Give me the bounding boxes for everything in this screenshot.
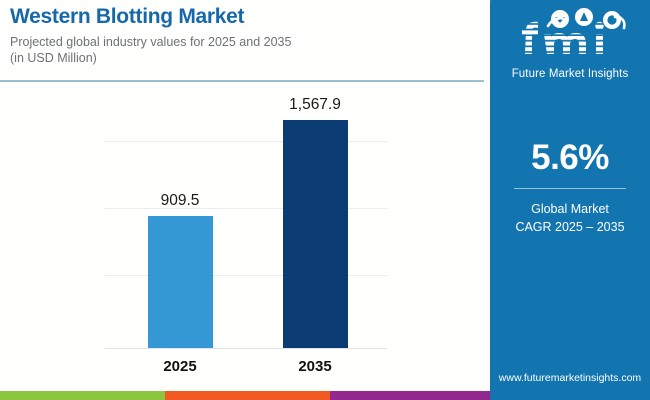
logo-wordmark: Future Market Insights	[490, 68, 650, 80]
header: Western Blotting Market Projected global…	[10, 6, 480, 67]
bar-category-label: 2035	[255, 358, 375, 375]
cagr-callout: 5.6% Global Market CAGR 2025 – 2035	[490, 140, 650, 236]
axis-baseline	[105, 348, 387, 349]
page-title: Western Blotting Market	[10, 6, 480, 29]
bottom-color-strip	[0, 391, 490, 400]
bar-2025	[148, 216, 213, 348]
cagr-divider	[514, 188, 626, 189]
bar-value-label: 909.5	[120, 192, 240, 210]
bar-category-label: 2025	[120, 358, 240, 375]
strip-segment-orange	[165, 391, 330, 400]
header-divider	[0, 80, 484, 82]
cagr-caption-line1: Global Market	[490, 200, 650, 218]
strip-segment-green	[0, 391, 165, 400]
page-subtitle: Projected global industry values for 202…	[10, 34, 480, 67]
fmi-logo-mark	[504, 8, 636, 66]
bar-value-label: 1,567.9	[255, 96, 375, 114]
cagr-caption-line2: CAGR 2025 – 2035	[490, 218, 650, 236]
website-url: www.futuremarketinsights.com	[490, 372, 650, 384]
fmi-logo: Future Market Insights	[490, 8, 650, 80]
brand-panel: Future Market Insights 5.6% Global Marke…	[490, 0, 650, 400]
strip-segment-purple	[330, 391, 490, 400]
chart-panel: Western Blotting Market Projected global…	[0, 0, 490, 400]
cagr-value: 5.6%	[490, 140, 650, 175]
bar-2035	[283, 120, 348, 348]
infographic-root: Western Blotting Market Projected global…	[0, 0, 650, 400]
